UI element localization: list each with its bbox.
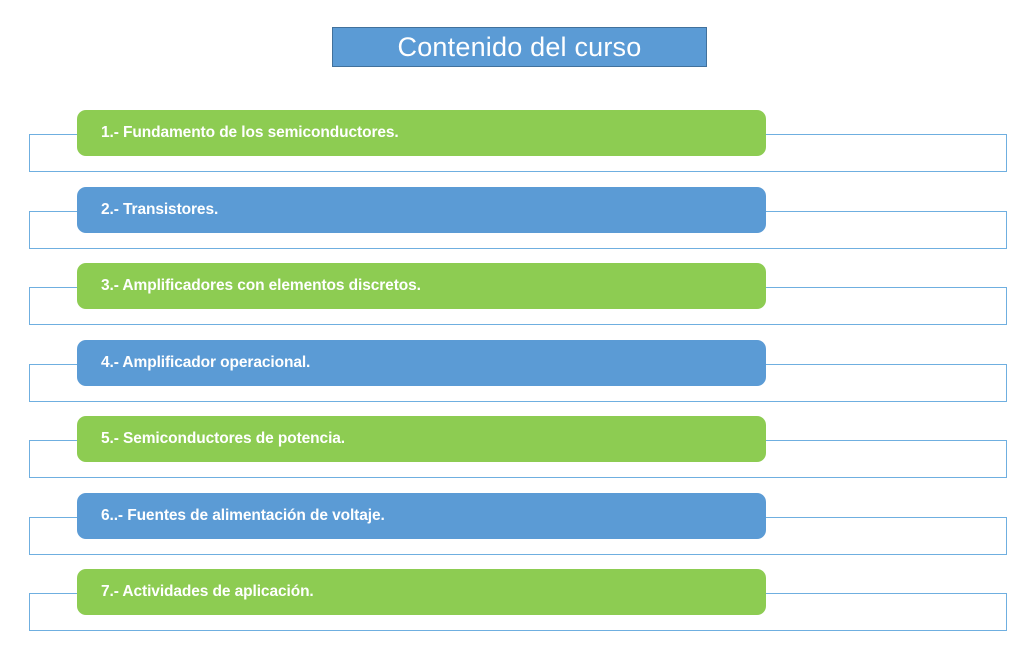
topic-bar[interactable]: 6..- Fuentes de alimentación de voltaje. bbox=[77, 493, 766, 539]
course-topic-row: 5.- Semiconductores de potencia. bbox=[0, 416, 1030, 486]
course-topic-row: 1.- Fundamento de los semiconductores. bbox=[0, 110, 1030, 180]
course-content-slide: Contenido del curso 1.- Fundamento de lo… bbox=[0, 0, 1030, 663]
topic-label: 7.- Actividades de aplicación. bbox=[77, 584, 314, 600]
topic-label: 4.- Amplificador operacional. bbox=[77, 355, 310, 371]
topic-bar[interactable]: 1.- Fundamento de los semiconductores. bbox=[77, 110, 766, 156]
topic-bar[interactable]: 4.- Amplificador operacional. bbox=[77, 340, 766, 386]
topic-bar[interactable]: 5.- Semiconductores de potencia. bbox=[77, 416, 766, 462]
topic-bar[interactable]: 7.- Actividades de aplicación. bbox=[77, 569, 766, 615]
topic-label: 6..- Fuentes de alimentación de voltaje. bbox=[77, 508, 385, 524]
topic-label: 1.- Fundamento de los semiconductores. bbox=[77, 125, 399, 141]
course-topic-row: 2.- Transistores. bbox=[0, 187, 1030, 257]
page-title: Contenido del curso bbox=[398, 34, 642, 61]
topic-label: 3.- Amplificadores con elementos discret… bbox=[77, 278, 421, 294]
course-topic-row: 6..- Fuentes de alimentación de voltaje. bbox=[0, 493, 1030, 563]
course-topic-row: 7.- Actividades de aplicación. bbox=[0, 569, 1030, 639]
slide-title-box: Contenido del curso bbox=[332, 27, 707, 67]
topic-bar[interactable]: 3.- Amplificadores con elementos discret… bbox=[77, 263, 766, 309]
course-topic-row: 3.- Amplificadores con elementos discret… bbox=[0, 263, 1030, 333]
topic-bar[interactable]: 2.- Transistores. bbox=[77, 187, 766, 233]
course-topic-row: 4.- Amplificador operacional. bbox=[0, 340, 1030, 410]
topic-label: 5.- Semiconductores de potencia. bbox=[77, 431, 345, 447]
topic-label: 2.- Transistores. bbox=[77, 202, 218, 218]
